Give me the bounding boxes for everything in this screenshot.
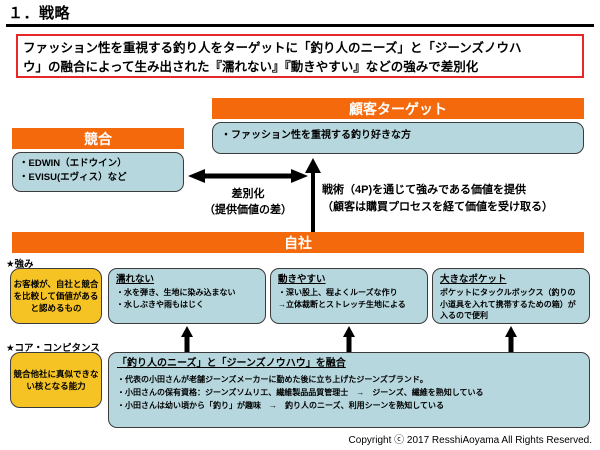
strategy-summary-box: ファッション性を重視する釣り人をターゲットに「釣り人のニーズ」と「ジーンズノウハ… <box>16 34 584 78</box>
competitor-header: 競合 <box>12 128 184 149</box>
customer-target-header: 顧客ターゲット <box>212 98 584 119</box>
differentiation-line-1: 差別化 <box>182 186 314 202</box>
summary-line-2: ウ」の融合によって生み出された『濡れない』『動きやすい』などの強みで差別化 <box>23 58 577 77</box>
summary-line-1: ファッション性を重視する釣り人をターゲットに「釣り人のニーズ」と「ジーンズノウハ <box>23 39 577 58</box>
tactics-up-arrow-icon <box>305 158 321 234</box>
differentiation-label: 差別化 （提供価値の差） <box>182 186 314 218</box>
title-divider <box>6 24 594 27</box>
slide-canvas: １．戦略 ファッション性を重視する釣り人をターゲットに「釣り人のニーズ」と「ジー… <box>0 0 600 450</box>
tactics-label: 戦術（4P)を通じて強みである価値を提供 （顧客は購買プロセスを経て価値を受け取… <box>322 182 553 216</box>
competitor-item: ・EDWIN（エドウイン） <box>19 157 177 171</box>
strength-item: ポケットにタックルボックス（釣りの小道具を入れて携帯するための箱）が入るので便利 <box>440 287 582 322</box>
strength-box-1: 濡れない ・水を弾き、生地に染み込まない ・水しぶきや雨もはじく <box>108 268 266 324</box>
strength-box-2: 動きやすい ・深い股上、程よくルーズな作り →立体裁断とストレッチ生地による <box>270 268 428 324</box>
core-competence-definition-callout: 競合他社に真似できない核となる能力 <box>10 352 102 408</box>
customer-target-box: ・ファッション性を重視する釣り好きな方 <box>212 122 584 154</box>
company-header: 自社 <box>12 232 584 253</box>
strength-item: ・深い股上、程よくルーズな作り <box>278 287 420 299</box>
strength-heading: 濡れない <box>116 273 258 286</box>
strength-item: ・水しぶきや雨もはじく <box>116 299 258 311</box>
core-competence-heading: 「釣り人のニーズ」と「ジーンズノウハウ」を融合 <box>117 357 581 371</box>
strength-heading: 動きやすい <box>278 273 420 286</box>
competitor-item: ・EVISU(エヴィス）など <box>19 171 177 185</box>
core-to-strength-arrow-icon <box>505 326 517 352</box>
page-title: １．戦略 <box>8 2 70 23</box>
core-competence-box: 「釣り人のニーズ」と「ジーンズノウハウ」を融合 ・代表の小田さんが老舗ジーンズメ… <box>108 352 590 428</box>
core-competence-item: ・小田さんは幼い頃から「釣り」が趣味 → 釣り人のニーズ、利用シーンを熟知してい… <box>117 399 581 412</box>
core-competence-item: ・小田さんの保有資格：ジーンズソムリエ、繊維製品品質管理士 → ジーンズ、繊維を… <box>117 386 581 399</box>
customer-item: ・ファッション性を重視する釣り好きな方 <box>221 129 575 143</box>
strength-definition-callout: お客様が、自社と競合を比較して価値があると認めるもの <box>10 268 102 324</box>
strength-box-3: 大きなポケット ポケットにタックルボックス（釣りの小道具を入れて携帯するための箱… <box>432 268 590 324</box>
strength-heading: 大きなポケット <box>440 273 582 286</box>
strength-item: →立体裁断とストレッチ生地による <box>278 299 420 311</box>
differentiation-double-arrow-icon <box>188 168 308 184</box>
tactics-line-1: 戦術（4P)を通じて強みである価値を提供 <box>322 182 553 199</box>
core-competence-item: ・代表の小田さんが老舗ジーンズメーカーに勤めた後に立ち上げたジーンズブランド。 <box>117 373 581 386</box>
core-to-strength-arrow-icon <box>181 326 193 352</box>
competitor-box: ・EDWIN（エドウイン） ・EVISU(エヴィス）など <box>12 152 184 192</box>
core-to-strength-arrow-icon <box>343 326 355 352</box>
copyright-notice: Copyright ⓒ 2017 ResshiAoyama All Rights… <box>349 431 592 446</box>
strength-item: ・水を弾き、生地に染み込まない <box>116 287 258 299</box>
tactics-line-2: （顧客は購買プロセスを経て価値を受け取る） <box>322 199 553 216</box>
differentiation-line-2: （提供価値の差） <box>182 202 314 218</box>
